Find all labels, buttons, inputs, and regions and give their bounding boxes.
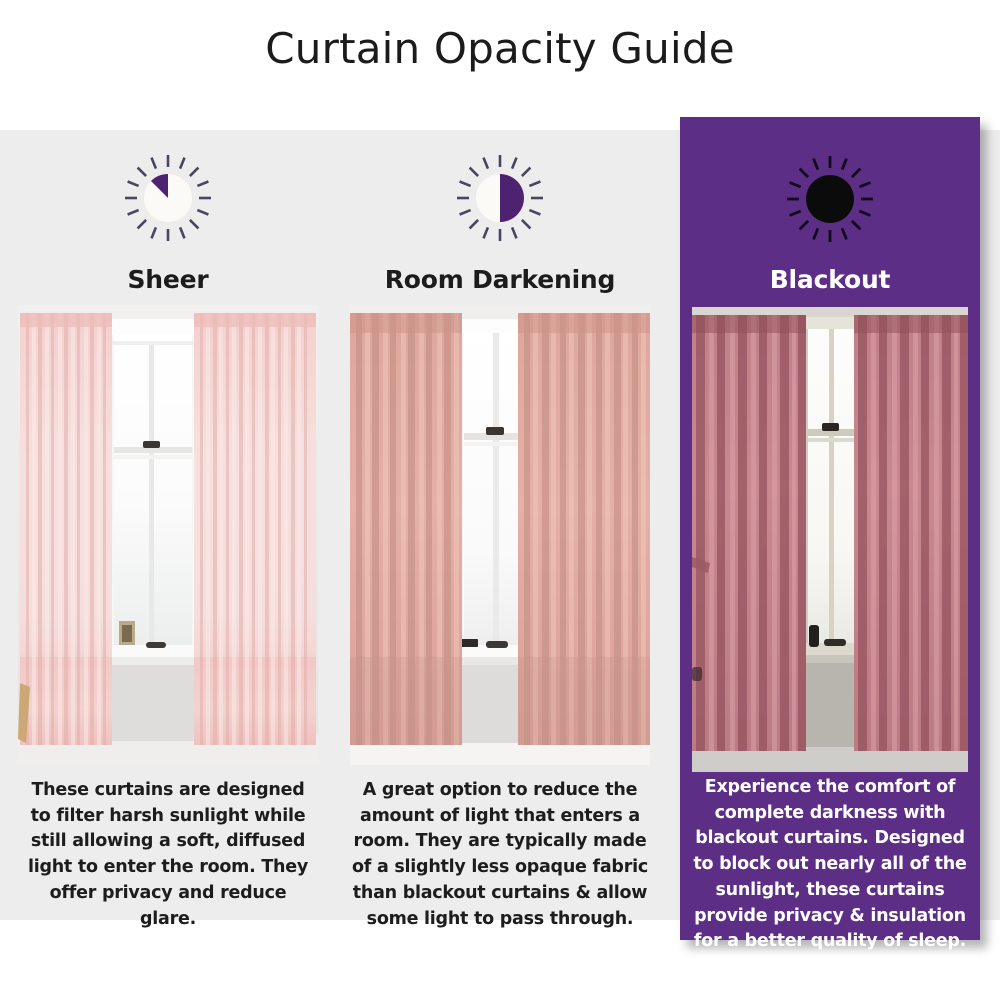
sheer-curtain-photo-svg — [18, 305, 318, 765]
column-heading-sheer: Sheer — [8, 265, 328, 294]
sun-quarter-filled-icon — [8, 152, 328, 244]
sun-half-filled-icon-svg — [454, 152, 546, 244]
column-description-room-darkening: A great option to reduce the amount of l… — [352, 778, 648, 932]
column-sheer[interactable]: Sheer — [8, 130, 328, 920]
blackout-curtain-photo — [692, 307, 968, 772]
column-blackout[interactable]: Blackout — [680, 117, 980, 940]
curtain-opacity-infographic: Curtain Opacity Guide — [0, 0, 1000, 1000]
sun-full-filled-icon-svg — [784, 153, 876, 245]
room-darkening-curtain-photo-svg — [350, 305, 650, 765]
sun-quarter-filled-icon-svg — [122, 152, 214, 244]
room-darkening-curtain-photo — [350, 305, 650, 765]
column-description-blackout: Experience the comfort of complete darkn… — [690, 775, 970, 955]
sun-half-filled-icon — [340, 152, 660, 244]
page-title: Curtain Opacity Guide — [0, 24, 1000, 73]
column-description-sheer: These curtains are designed to filter ha… — [20, 778, 316, 932]
sun-full-filled-icon — [680, 153, 980, 245]
column-heading-blackout: Blackout — [680, 265, 980, 294]
sheer-curtain-photo — [18, 305, 318, 765]
column-room-darkening[interactable]: Room Darkening — [340, 130, 660, 920]
blackout-curtain-photo-svg — [692, 307, 968, 772]
column-heading-room-darkening: Room Darkening — [340, 265, 660, 294]
